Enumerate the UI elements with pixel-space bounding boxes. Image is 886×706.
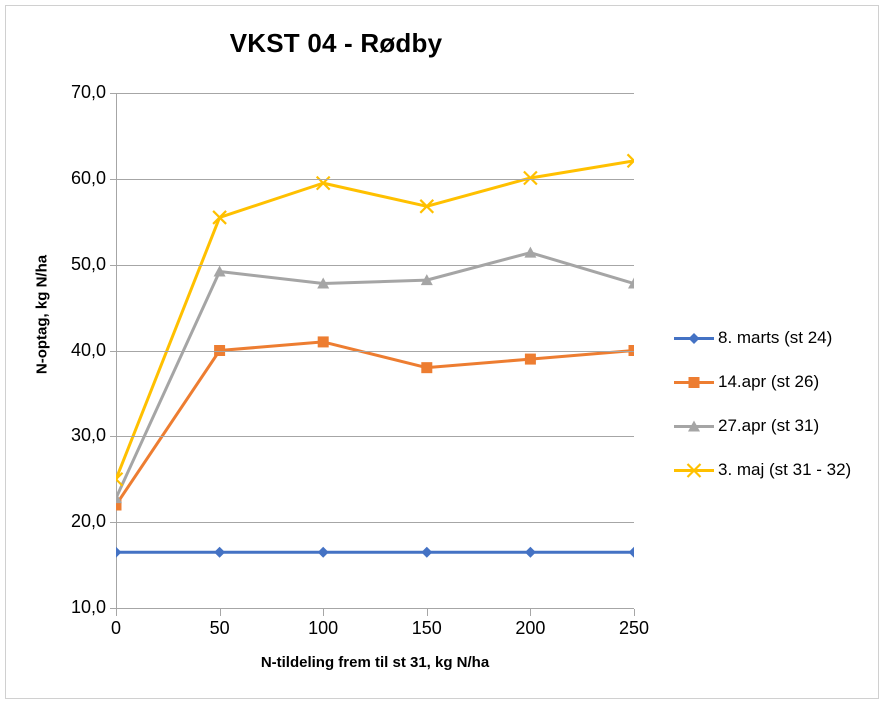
series-marker [318, 336, 329, 347]
y-axis-title: N-optag, kg N/ha [34, 215, 51, 415]
gridline [116, 265, 634, 266]
x-axis-tick-label: 50 [190, 618, 250, 639]
y-axis-tick-label: 30,0 [44, 425, 106, 446]
legend-marker-icon [674, 373, 714, 391]
x-axis-tick-label: 250 [604, 618, 664, 639]
series-line [116, 342, 634, 505]
legend-item[interactable]: 27.apr (st 31) [674, 404, 879, 448]
series-marker [525, 547, 536, 558]
series-line [116, 161, 634, 479]
gridline [116, 436, 634, 437]
legend-marker-icon [674, 417, 714, 435]
gridline [116, 179, 634, 180]
legend-item[interactable]: 8. marts (st 24) [674, 316, 879, 360]
data-series [116, 336, 634, 510]
gridline [116, 351, 634, 352]
y-axis-tick-label: 10,0 [44, 597, 106, 618]
gridline [116, 608, 634, 609]
gridline [116, 93, 634, 94]
series-line [116, 253, 634, 498]
y-axis-tick-label: 40,0 [44, 340, 106, 361]
x-axis-tick-label: 0 [86, 618, 146, 639]
y-axis-tick-label: 60,0 [44, 168, 106, 189]
x-axis-tick [634, 609, 635, 616]
series-marker [421, 362, 432, 373]
gridline [116, 522, 634, 523]
x-axis-tick-label: 150 [397, 618, 457, 639]
x-axis-tick [427, 609, 428, 616]
x-axis-tick-label: 200 [500, 618, 560, 639]
x-axis-tick [530, 609, 531, 616]
x-axis-tick-label: 100 [293, 618, 353, 639]
legend-marker-icon [674, 329, 714, 347]
data-series [116, 547, 634, 558]
plot-area [116, 93, 634, 608]
chart-legend: 8. marts (st 24)14.apr (st 26)27.apr (st… [674, 316, 879, 492]
legend-label: 8. marts (st 24) [718, 328, 832, 348]
series-marker [318, 547, 329, 558]
chart-container: VKST 04 - Rødby 10,020,030,040,050,060,0… [5, 5, 879, 699]
series-marker [524, 247, 536, 258]
legend-label: 14.apr (st 26) [718, 372, 819, 392]
legend-marker-icon [674, 461, 714, 479]
series-marker [629, 547, 635, 558]
legend-item[interactable]: 3. maj (st 31 - 32) [674, 448, 879, 492]
y-axis-tick-label: 70,0 [44, 82, 106, 103]
legend-label: 3. maj (st 31 - 32) [718, 460, 851, 480]
series-marker [116, 547, 122, 558]
legend-label: 27.apr (st 31) [718, 416, 819, 436]
series-marker [214, 547, 225, 558]
x-axis-title: N-tildeling frem til st 31, kg N/ha [116, 654, 634, 671]
x-axis-tick [220, 609, 221, 616]
legend-item[interactable]: 14.apr (st 26) [674, 360, 879, 404]
y-axis-tick-label: 50,0 [44, 254, 106, 275]
y-axis-tick-label: 20,0 [44, 511, 106, 532]
x-axis-tick [116, 609, 117, 616]
series-marker [525, 354, 536, 365]
x-axis-tick [323, 609, 324, 616]
series-marker [421, 547, 432, 558]
chart-title: VKST 04 - Rødby [6, 28, 666, 59]
